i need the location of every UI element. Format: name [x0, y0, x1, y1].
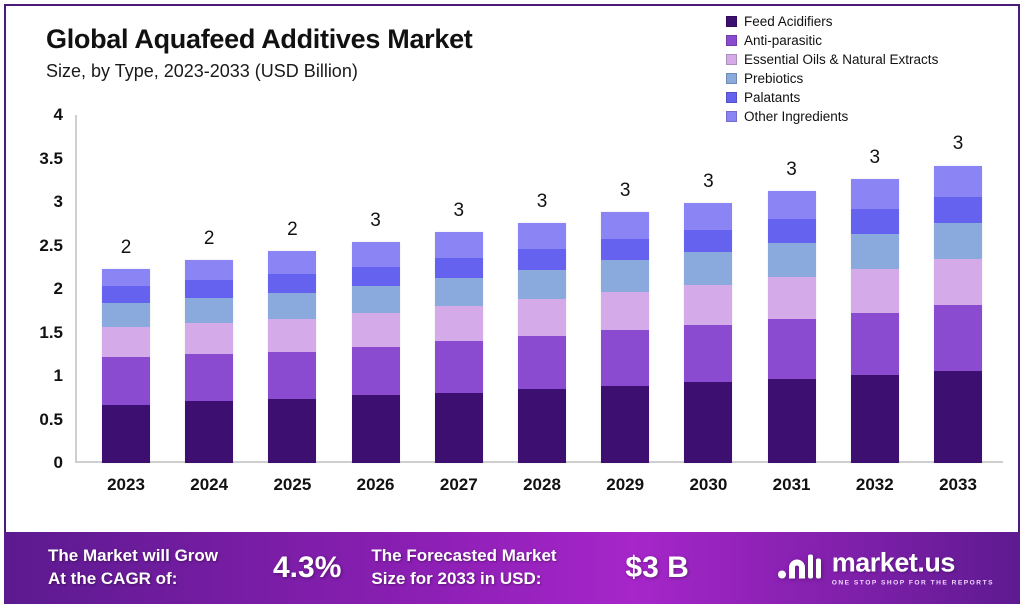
bar-segment[interactable]: [768, 191, 816, 220]
bar-segment[interactable]: [185, 280, 233, 297]
bar-segment[interactable]: [435, 341, 483, 392]
y-axis-tick: 0.5: [39, 410, 63, 430]
market-us-logo-icon: [777, 549, 823, 588]
page-subtitle: Size, by Type, 2023-2033 (USD Billion): [46, 61, 473, 82]
bar-segment[interactable]: [768, 277, 816, 319]
legend-item[interactable]: Anti-parasitic: [726, 31, 938, 50]
x-axis-tick: 2028: [523, 475, 561, 495]
bar-segment[interactable]: [601, 386, 649, 463]
bar-segment[interactable]: [934, 259, 982, 304]
legend-swatch-icon: [726, 16, 737, 27]
bar-column[interactable]: [518, 223, 566, 463]
legend-swatch-icon: [726, 54, 737, 65]
bar-segment[interactable]: [684, 252, 732, 284]
bar-column[interactable]: [435, 232, 483, 463]
chart-legend: Feed AcidifiersAnti-parasiticEssential O…: [726, 12, 938, 126]
brand-tagline: ONE STOP SHOP FOR THE REPORTS: [832, 580, 994, 587]
title-block: Global Aquafeed Additives Market Size, b…: [46, 24, 473, 82]
bar-segment[interactable]: [934, 166, 982, 197]
bar-column[interactable]: [102, 269, 150, 463]
bar-segment[interactable]: [684, 382, 732, 463]
bar-value-label: 2: [204, 228, 215, 250]
brand-name: market.us: [832, 550, 994, 577]
x-axis-tick: 2029: [606, 475, 644, 495]
y-axis-tick: 0: [54, 453, 63, 473]
cagr-label-line1: The Market will Grow: [48, 545, 263, 568]
legend-swatch-icon: [726, 35, 737, 46]
bar-segment[interactable]: [518, 299, 566, 336]
bar-segment[interactable]: [102, 303, 150, 327]
bar-value-label: 3: [370, 210, 381, 232]
y-axis-tick: 3: [54, 192, 63, 212]
x-axis-tick: 2027: [440, 475, 478, 495]
bar-column[interactable]: [268, 251, 316, 463]
bar-segment[interactable]: [435, 278, 483, 307]
legend-label: Prebiotics: [744, 71, 803, 86]
bar-value-label: 2: [121, 237, 132, 259]
bar-segment[interactable]: [684, 325, 732, 382]
y-axis-tick: 1.5: [39, 323, 63, 343]
legend-item[interactable]: Essential Oils & Natural Extracts: [726, 50, 938, 69]
legend-label: Anti-parasitic: [744, 33, 822, 48]
bar-segment[interactable]: [601, 239, 649, 261]
forecast-label-line2: Size for 2033 in USD:: [371, 568, 611, 591]
bar-segment[interactable]: [435, 232, 483, 257]
brand-logo[interactable]: market.us ONE STOP SHOP FOR THE REPORTS: [777, 549, 994, 588]
bar-value-label: 3: [786, 159, 797, 181]
bar-column[interactable]: [684, 203, 732, 463]
forecast-label-line1: The Forecasted Market: [371, 545, 611, 568]
y-axis-tick: 4: [54, 105, 63, 125]
bar-value-label: 3: [537, 191, 548, 213]
bar-segment[interactable]: [934, 305, 982, 371]
footer-bar: The Market will Grow At the CAGR of: 4.3…: [4, 532, 1020, 604]
bar-column[interactable]: [352, 242, 400, 463]
legend-label: Feed Acidifiers: [744, 14, 833, 29]
legend-item[interactable]: Prebiotics: [726, 69, 938, 88]
bar-segment[interactable]: [435, 258, 483, 278]
bar-segment[interactable]: [601, 292, 649, 330]
bar-value-label: 3: [454, 200, 465, 222]
bar-segment[interactable]: [684, 285, 732, 325]
bar-segment[interactable]: [185, 298, 233, 323]
bar-value-label: 3: [953, 133, 964, 155]
bar-segment[interactable]: [768, 319, 816, 379]
x-axis-tick: 2031: [773, 475, 811, 495]
bar-segment[interactable]: [268, 251, 316, 274]
cagr-label: The Market will Grow At the CAGR of:: [48, 545, 263, 591]
bar-segment[interactable]: [435, 306, 483, 341]
x-axis-tick: 2030: [689, 475, 727, 495]
bar-column[interactable]: [851, 179, 899, 463]
bar-segment[interactable]: [268, 293, 316, 319]
bar-segment[interactable]: [934, 197, 982, 223]
bar-segment[interactable]: [268, 399, 316, 463]
bar-segment[interactable]: [352, 267, 400, 286]
y-axis-tick: 2.5: [39, 236, 63, 256]
bar-segment[interactable]: [185, 354, 233, 401]
bar-segment[interactable]: [102, 327, 150, 357]
x-axis-tick: 2024: [190, 475, 228, 495]
cagr-label-line2: At the CAGR of:: [48, 568, 263, 591]
bar-column[interactable]: [601, 212, 649, 463]
bar-segment[interactable]: [934, 371, 982, 463]
bar-segment[interactable]: [684, 230, 732, 253]
bar-segment[interactable]: [601, 330, 649, 386]
bar-segment[interactable]: [768, 219, 816, 242]
bar-segment[interactable]: [102, 405, 150, 463]
bar-segment[interactable]: [352, 313, 400, 347]
y-axis-tick: 2: [54, 279, 63, 299]
bar-segment[interactable]: [601, 260, 649, 291]
x-axis-tick: 2026: [357, 475, 395, 495]
bar-segment[interactable]: [352, 347, 400, 395]
bar-segment[interactable]: [851, 234, 899, 269]
bar-segment[interactable]: [851, 313, 899, 376]
legend-swatch-icon: [726, 92, 737, 103]
legend-label: Essential Oils & Natural Extracts: [744, 52, 938, 67]
bar-segment[interactable]: [185, 323, 233, 354]
legend-label: Palatants: [744, 90, 800, 105]
bar-segment[interactable]: [268, 352, 316, 399]
bar-segment[interactable]: [851, 209, 899, 234]
x-axis-tick: 2023: [107, 475, 145, 495]
bar-value-label: 3: [703, 171, 714, 193]
bar-segment[interactable]: [102, 286, 150, 303]
bar-column[interactable]: [768, 191, 816, 463]
bar-segment[interactable]: [934, 223, 982, 260]
bar-segment[interactable]: [185, 260, 233, 280]
bar-segment[interactable]: [102, 357, 150, 405]
x-axis-tick: 2032: [856, 475, 894, 495]
x-axis-tick: 2033: [939, 475, 977, 495]
chart-page: Global Aquafeed Additives Market Size, b…: [0, 0, 1024, 608]
bar-segment[interactable]: [768, 379, 816, 463]
bar-segment[interactable]: [768, 243, 816, 277]
bar-value-label: 3: [870, 147, 881, 169]
bar-segment[interactable]: [102, 269, 150, 286]
y-axis-line: [75, 115, 77, 463]
bar-segment[interactable]: [185, 401, 233, 463]
bar-segment[interactable]: [268, 274, 316, 292]
page-title: Global Aquafeed Additives Market: [46, 24, 473, 55]
plot-area: 00.511.522.533.5422023220242202532026320…: [75, 115, 1003, 463]
bar-segment[interactable]: [518, 336, 566, 389]
bar-segment[interactable]: [684, 203, 732, 230]
bar-segment[interactable]: [851, 179, 899, 209]
bar-segment[interactable]: [268, 319, 316, 352]
bar-segment[interactable]: [851, 269, 899, 313]
bar-segment[interactable]: [518, 270, 566, 300]
cagr-value: 4.3%: [273, 551, 341, 585]
bar-segment[interactable]: [601, 212, 649, 238]
bar-column[interactable]: [185, 260, 233, 463]
bar-segment[interactable]: [518, 389, 566, 463]
bar-value-label: 2: [287, 219, 298, 241]
bar-segment[interactable]: [352, 395, 400, 463]
bar-column[interactable]: [934, 166, 982, 464]
bar-segment[interactable]: [352, 242, 400, 267]
forecast-label: The Forecasted Market Size for 2033 in U…: [371, 545, 611, 591]
y-axis-tick: 1: [54, 366, 63, 386]
legend-swatch-icon: [726, 73, 737, 84]
brand-text-block: market.us ONE STOP SHOP FOR THE REPORTS: [832, 550, 994, 587]
forecast-value: $3 B: [625, 551, 688, 585]
bar-segment[interactable]: [518, 223, 566, 249]
x-axis-tick: 2025: [273, 475, 311, 495]
bar-segment[interactable]: [352, 286, 400, 313]
bar-segment[interactable]: [851, 375, 899, 463]
bar-value-label: 3: [620, 180, 631, 202]
y-axis-tick: 3.5: [39, 149, 63, 169]
bar-segment[interactable]: [435, 393, 483, 463]
legend-item[interactable]: Feed Acidifiers: [726, 12, 938, 31]
bar-segment[interactable]: [518, 249, 566, 270]
legend-item[interactable]: Palatants: [726, 88, 938, 107]
